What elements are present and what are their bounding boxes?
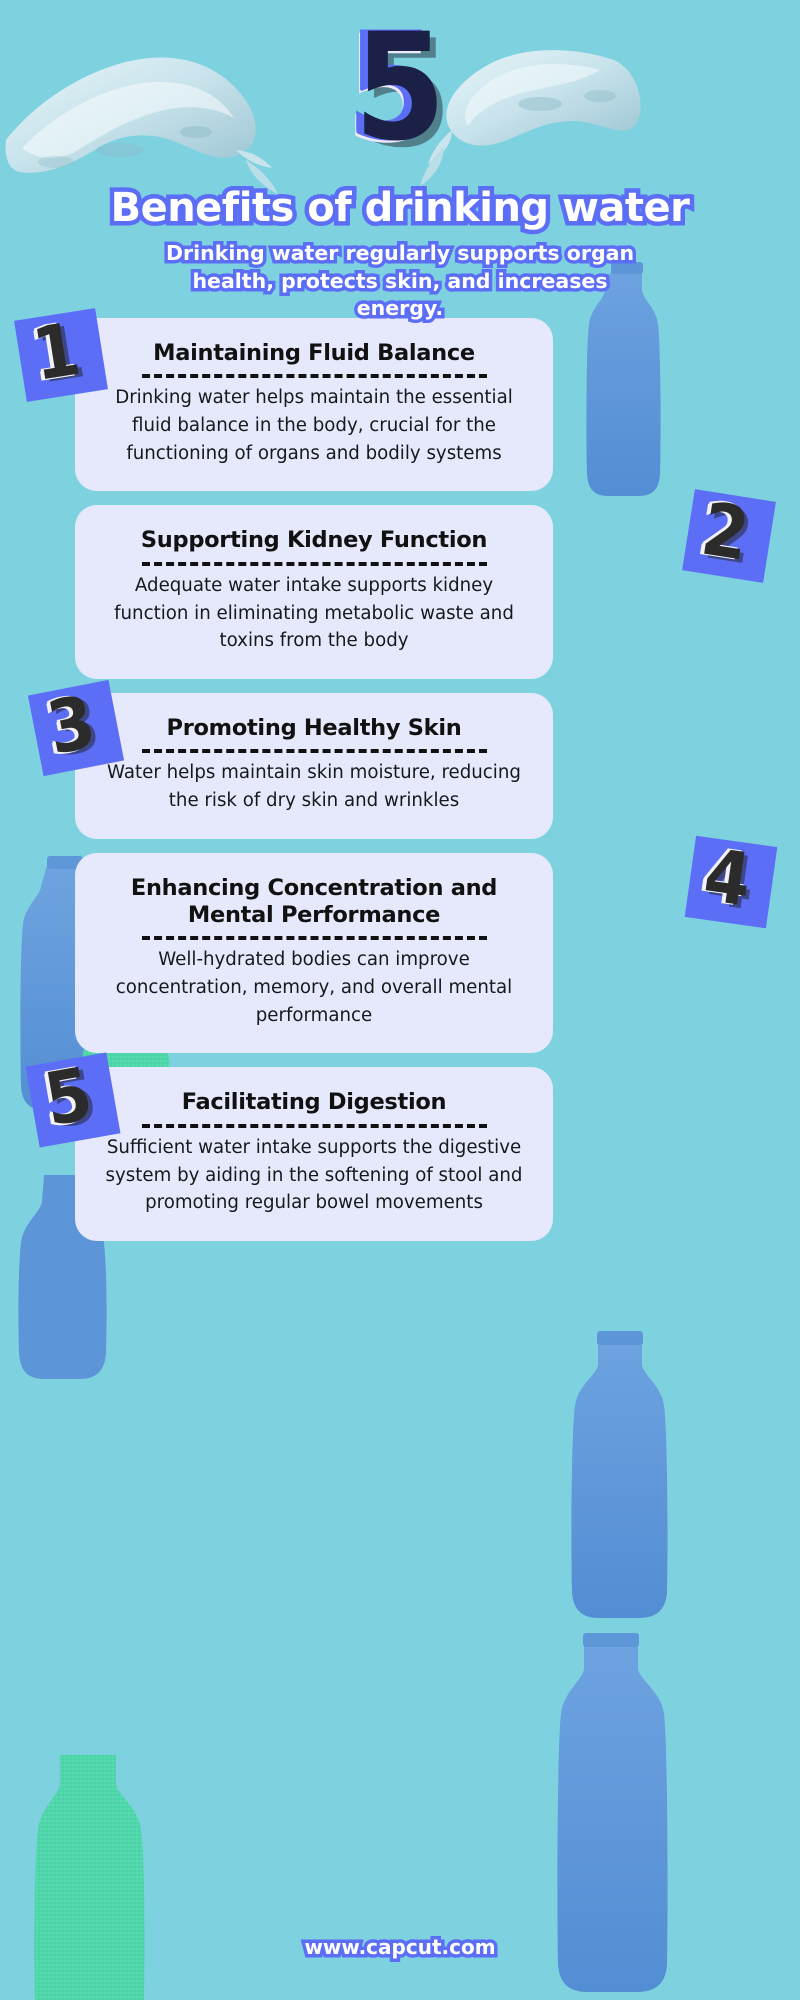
number-badge-2: 2: [682, 489, 776, 583]
benefit-card-5-divider: [142, 1124, 487, 1128]
number-badge-1-text: 1: [28, 313, 85, 392]
number-badge-2-text: 2: [697, 493, 754, 572]
benefit-card-3-title: Promoting Healthy Skin: [101, 715, 527, 742]
benefit-card-3-body: Water helps maintain skin moisture, redu…: [101, 759, 527, 814]
benefit-card-1-divider: [142, 374, 487, 378]
benefit-card-5-body: Sufficient water intake supports the dig…: [101, 1134, 527, 1217]
number-badge-3: 3: [28, 680, 124, 776]
benefit-card-2[interactable]: Supporting Kidney Function Adequate wate…: [75, 505, 553, 678]
benefit-card-1-body: Drinking water helps maintain the essent…: [101, 384, 527, 467]
benefits-list: 1 Maintaining Fluid Balance Drinking wat…: [0, 318, 800, 1255]
benefit-row-3: 3 Promoting Healthy Skin Water helps mai…: [0, 693, 800, 839]
benefit-card-4[interactable]: Enhancing Concentration and Mental Perfo…: [75, 853, 553, 1054]
benefit-card-5-title: Facilitating Digestion: [101, 1089, 527, 1116]
number-badge-5-text: 5: [40, 1058, 98, 1137]
benefit-row-1: 1 Maintaining Fluid Balance Drinking wat…: [0, 318, 800, 491]
benefit-card-2-title: Supporting Kidney Function: [101, 527, 527, 554]
page-title: Benefits of drinking water: [0, 186, 800, 230]
benefit-card-5[interactable]: Facilitating Digestion Sufficient water …: [75, 1067, 553, 1240]
benefit-card-4-body: Well-hydrated bodies can improve concent…: [101, 946, 527, 1029]
benefit-card-3-divider: [142, 749, 487, 753]
benefit-row-5: 5 Facilitating Digestion Sufficient wate…: [0, 1067, 800, 1240]
benefit-row-2: 2 Supporting Kidney Function Adequate wa…: [0, 505, 800, 678]
page-subtitle-text: Drinking water regularly supports organ …: [165, 240, 635, 323]
benefit-card-4-divider: [142, 936, 487, 940]
benefit-card-1-title: Maintaining Fluid Balance: [101, 340, 527, 367]
number-badge-4-text: 4: [700, 839, 756, 917]
number-badge-3-text: 3: [42, 686, 101, 766]
page-title-text: Benefits of drinking water: [111, 186, 690, 230]
page-subtitle: Drinking water regularly supports organ …: [0, 240, 800, 323]
benefit-card-1[interactable]: Maintaining Fluid Balance Drinking water…: [75, 318, 553, 491]
benefit-card-2-divider: [142, 562, 487, 566]
number-badge-5: 5: [26, 1053, 121, 1148]
footer-watermark: www.capcut.com: [304, 1935, 495, 1959]
benefit-row-4: 4 Enhancing Concentration and Mental Per…: [0, 853, 800, 1054]
benefit-card-2-body: Adequate water intake supports kidney fu…: [101, 572, 527, 655]
number-badge-4: 4: [685, 835, 778, 928]
benefit-card-3[interactable]: Promoting Healthy Skin Water helps maint…: [75, 693, 553, 839]
footer: www.capcut.com: [0, 1935, 800, 1959]
benefit-card-4-title: Enhancing Concentration and Mental Perfo…: [101, 875, 527, 930]
